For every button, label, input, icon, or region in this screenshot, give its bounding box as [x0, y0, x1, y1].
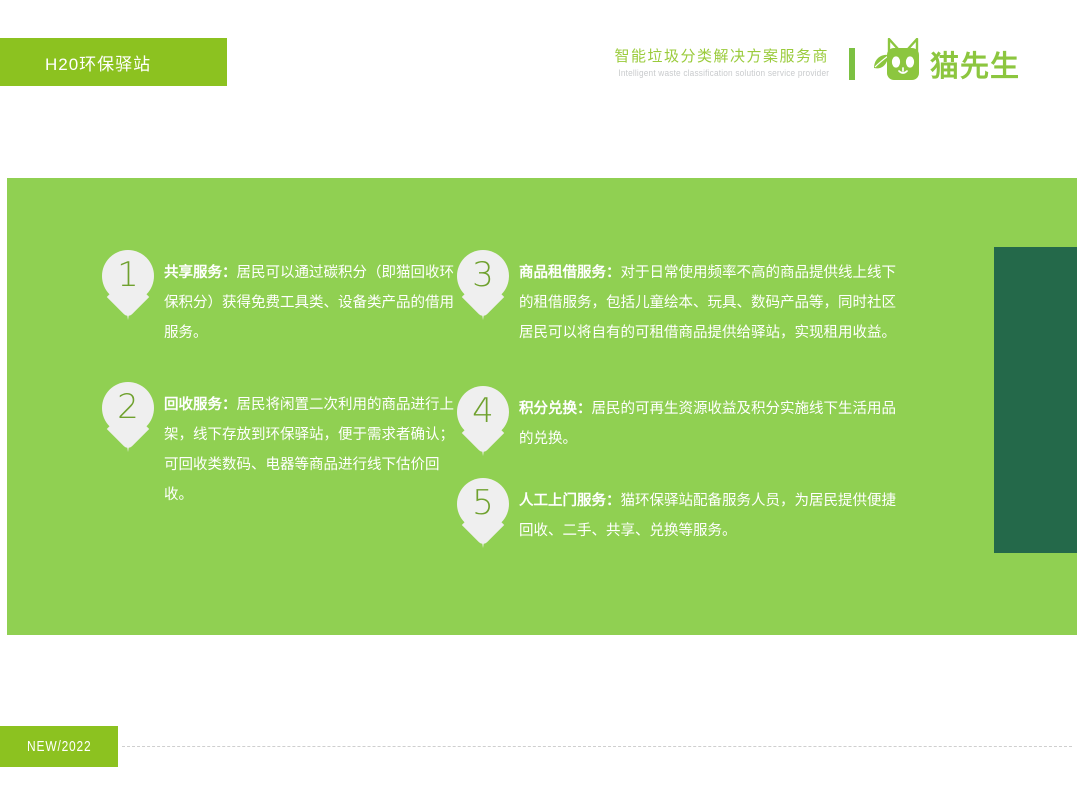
brand-logo: 猫先生	[871, 38, 1020, 89]
map-pin-icon: 3	[457, 250, 509, 322]
service-item-text: 商品租借服务：对于日常使用频率不高的商品提供线上线下的租借服务，包括儿童绘本、玩…	[519, 250, 907, 348]
service-item-heading: 回收服务：	[164, 397, 237, 413]
service-item-4: 4 积分兑换：居民的可再生资源收益及积分实施线下生活用品的兑换。	[457, 386, 907, 458]
map-pin-icon: 2	[102, 382, 154, 454]
slogan-english: Intelligent waste classification solutio…	[618, 68, 829, 78]
page-header: H20环保驿站 智能垃圾分类解决方案服务商 Intelligent waste …	[0, 0, 1077, 120]
service-item-3: 3 商品租借服务：对于日常使用频率不高的商品提供线上线下的租借服务，包括儿童绘本…	[457, 250, 907, 348]
service-item-1: 1 共享服务：居民可以通过碳积分（即猫回收环保积分）获得免费工具类、设备类产品的…	[102, 250, 462, 348]
service-item-number: 1	[102, 250, 154, 300]
service-item-heading: 积分兑换：	[519, 401, 592, 417]
service-item-text: 积分兑换：居民的可再生资源收益及积分实施线下生活用品的兑换。	[519, 386, 907, 454]
service-item-2: 2 回收服务：居民将闲置二次利用的商品进行上架，线下存放到环保驿站，便于需求者确…	[102, 382, 462, 510]
footer-label: NEW/2022	[27, 738, 91, 755]
service-item-text: 人工上门服务：猫环保驿站配备服务人员，为居民提供便捷回收、二手、共享、兑换等服务…	[519, 478, 907, 546]
service-item-number: 4	[457, 386, 509, 436]
brand-name: 猫先生	[930, 43, 1020, 85]
service-item-heading: 共享服务：	[164, 265, 237, 281]
page-footer: NEW/2022	[0, 726, 1077, 771]
slogan-chinese: 智能垃圾分类解决方案服务商	[600, 48, 829, 65]
service-item-text: 共享服务：居民可以通过碳积分（即猫回收环保积分）获得免费工具类、设备类产品的借用…	[164, 250, 462, 348]
brand-block: 智能垃圾分类解决方案服务商 Intelligent waste classifi…	[600, 38, 1020, 89]
service-item-heading: 商品租借服务：	[519, 265, 621, 281]
cat-face-leaf-icon	[871, 38, 923, 89]
service-item-number: 3	[457, 250, 509, 300]
brand-divider	[849, 48, 855, 80]
service-item-5: 5 人工上门服务：猫环保驿站配备服务人员，为居民提供便捷回收、二手、共享、兑换等…	[457, 478, 907, 550]
service-item-heading: 人工上门服务：	[519, 493, 621, 509]
footer-divider	[122, 746, 1072, 747]
service-item-text: 回收服务：居民将闲置二次利用的商品进行上架，线下存放到环保驿站，便于需求者确认；…	[164, 382, 462, 510]
map-pin-icon: 5	[457, 478, 509, 550]
service-item-number: 5	[457, 478, 509, 528]
page-title-box: H20环保驿站	[0, 38, 227, 86]
map-pin-icon: 4	[457, 386, 509, 458]
brand-slogans: 智能垃圾分类解决方案服务商 Intelligent waste classifi…	[600, 48, 829, 79]
map-pin-icon: 1	[102, 250, 154, 322]
service-item-number: 2	[102, 382, 154, 432]
content-panel: 1 共享服务：居民可以通过碳积分（即猫回收环保积分）获得免费工具类、设备类产品的…	[7, 178, 1077, 635]
footer-badge: NEW/2022	[0, 726, 118, 767]
page-title: H20环保驿站	[0, 50, 151, 75]
service-items: 1 共享服务：居民可以通过碳积分（即猫回收环保积分）获得免费工具类、设备类产品的…	[7, 178, 1077, 635]
